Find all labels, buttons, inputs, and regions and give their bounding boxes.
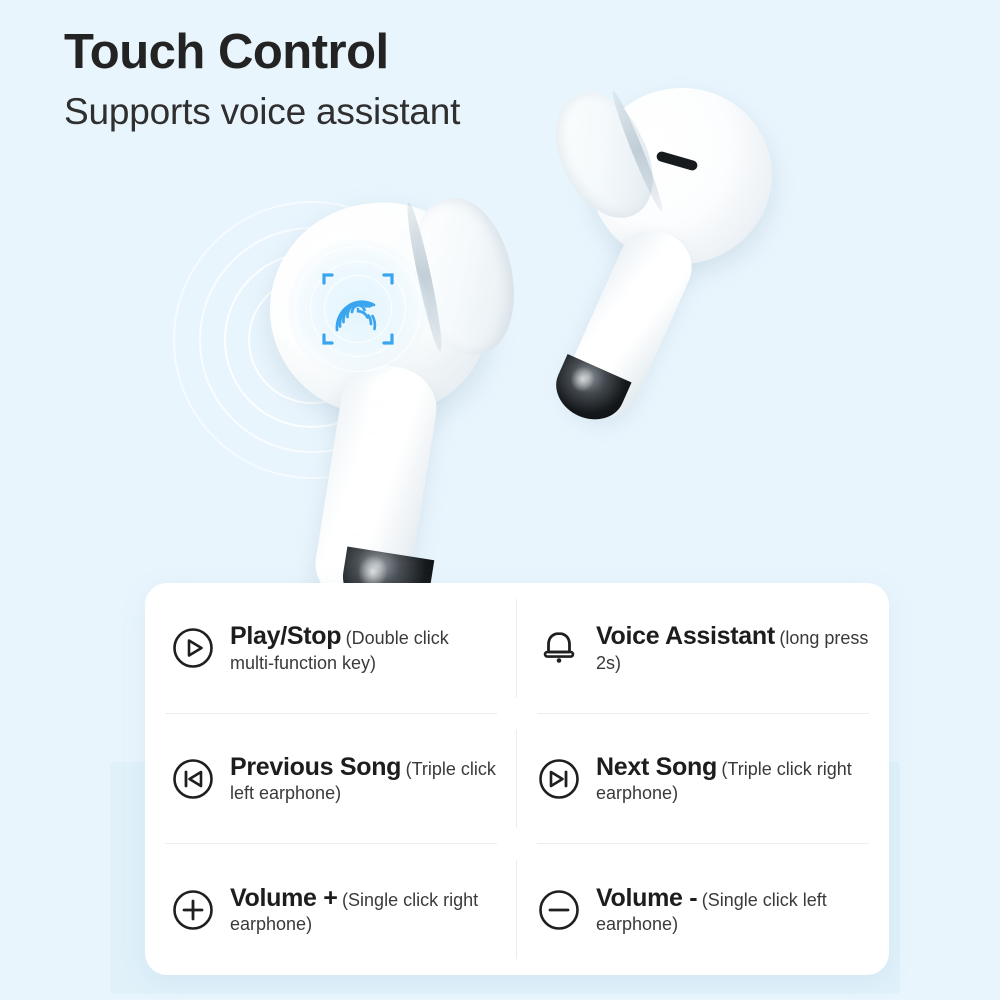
left-earbud-housing [260,192,499,426]
ripple-ring-inner [248,276,376,404]
feature-title: Next Song [596,753,717,781]
ripple-ring-mid-inner [224,252,400,428]
page-title: Touch Control [64,26,624,79]
touch-glow-ring-mid [310,261,406,357]
feature-cell-volume-up: Volume + (Single click right earphone) [145,844,517,975]
right-earbud-stem [555,219,702,428]
plus-circle-icon [169,886,217,934]
heading-block: Touch Control Supports voice assistant [64,26,624,133]
product-infographic: Touch Control Supports voice assistant [0,0,1000,1000]
feature-title: Volume + [230,884,338,912]
minus-circle-icon [535,886,583,934]
fingerprint-icon [310,261,406,357]
feature-title: Voice Assistant [596,622,775,650]
page-subtitle: Supports voice assistant [64,92,624,133]
touch-glow-ring-inner [324,275,392,343]
touch-control-feature-card: Play/Stop (Double click multi-function k… [145,583,889,975]
feature-title: Play/Stop [230,622,341,650]
right-earbud-vent-slot [655,150,698,171]
skip-previous-circle-icon [169,755,217,803]
feature-cell-voice-assistant: Voice Assistant (long press 2s) [517,583,889,714]
feature-title: Previous Song [230,753,401,781]
left-earbud-stem [310,359,443,613]
touch-ripple-rings [172,200,452,480]
play-circle-icon [169,624,217,672]
feature-title: Volume - [596,884,697,912]
feature-cell-volume-down: Volume - (Single click left earphone) [517,844,889,975]
ripple-ring-mid-outer [199,227,425,453]
feature-cell-next-song: Next Song (Triple click right earphone) [517,714,889,845]
right-earbud-stem-tip [546,354,631,430]
bell-icon [535,624,583,672]
left-earbud-eartip [403,189,528,364]
ripple-ring-outer [173,201,451,479]
skip-next-circle-icon [535,755,583,803]
touch-sensor-zone [288,239,428,379]
feature-cell-previous-song: Previous Song (Triple click left earphon… [145,714,517,845]
left-earbud-tip-seam [402,201,446,352]
touch-glow-ring-outer [295,246,421,372]
left-earbud [250,195,550,625]
feature-cell-play-stop: Play/Stop (Double click multi-function k… [145,583,517,714]
